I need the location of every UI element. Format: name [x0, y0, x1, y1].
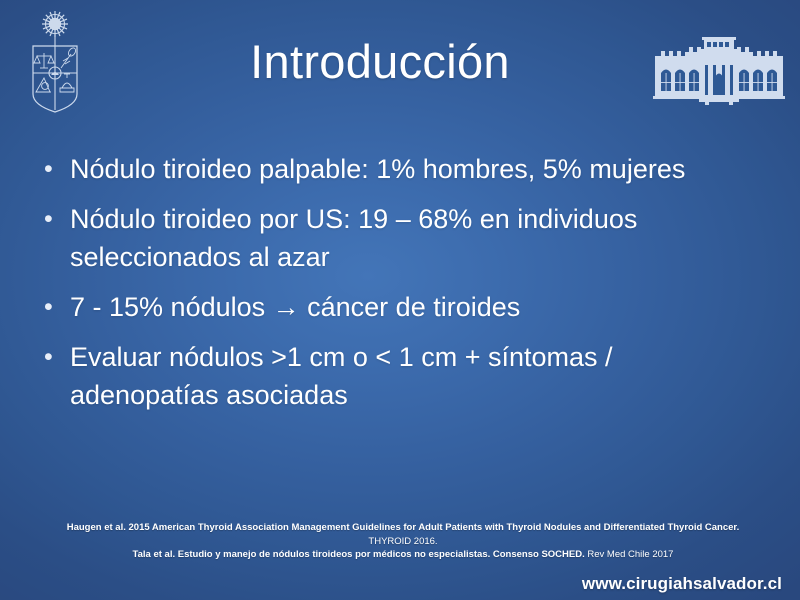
citation-1-bold: Haugen et al. 2015 American Thyroid Asso…: [67, 522, 740, 533]
citation-1-journal: THYROID 2016.: [368, 536, 437, 547]
list-item: • Nódulo tiroideo por US: 19 – 68% en in…: [36, 200, 766, 276]
bullet-text: Nódulo tiroideo palpable: 1% hombres, 5%…: [70, 150, 766, 188]
slide-title: Introducción: [120, 36, 640, 88]
citation-2-journal: Rev Med Chile 2017: [585, 549, 674, 560]
citation-2-bold: Tala et al. Estudio y manejo de nódulos …: [133, 549, 585, 560]
list-item: • Evaluar nódulos >1 cm o < 1 cm + sínto…: [36, 338, 766, 414]
bullet-point-icon: •: [36, 288, 70, 326]
bullet-text: Nódulo tiroideo por US: 19 – 68% en indi…: [70, 200, 766, 276]
list-item: • 7 - 15% nódulos → cáncer de tiroides: [36, 288, 766, 326]
bullet-point-icon: •: [36, 338, 70, 376]
website-url[interactable]: www.cirugiahsalvador.cl: [582, 574, 782, 594]
list-item: • Nódulo tiroideo palpable: 1% hombres, …: [36, 150, 766, 188]
bullet-point-icon: •: [36, 200, 70, 238]
universidad-de-chile-crest-icon: [20, 6, 90, 118]
bullet-text: 7 - 15% nódulos → cáncer de tiroides: [70, 288, 766, 326]
citation-block: Haugen et al. 2015 American Thyroid Asso…: [58, 521, 748, 562]
hospital-del-salvador-building-icon: [645, 33, 793, 111]
bullet-point-icon: •: [36, 150, 70, 188]
bullet-text: Evaluar nódulos >1 cm o < 1 cm + síntoma…: [70, 338, 766, 414]
bullet-list: • Nódulo tiroideo palpable: 1% hombres, …: [36, 150, 766, 426]
presentation-slide: Introducción • Nódulo tiroideo palpable:…: [0, 0, 800, 600]
